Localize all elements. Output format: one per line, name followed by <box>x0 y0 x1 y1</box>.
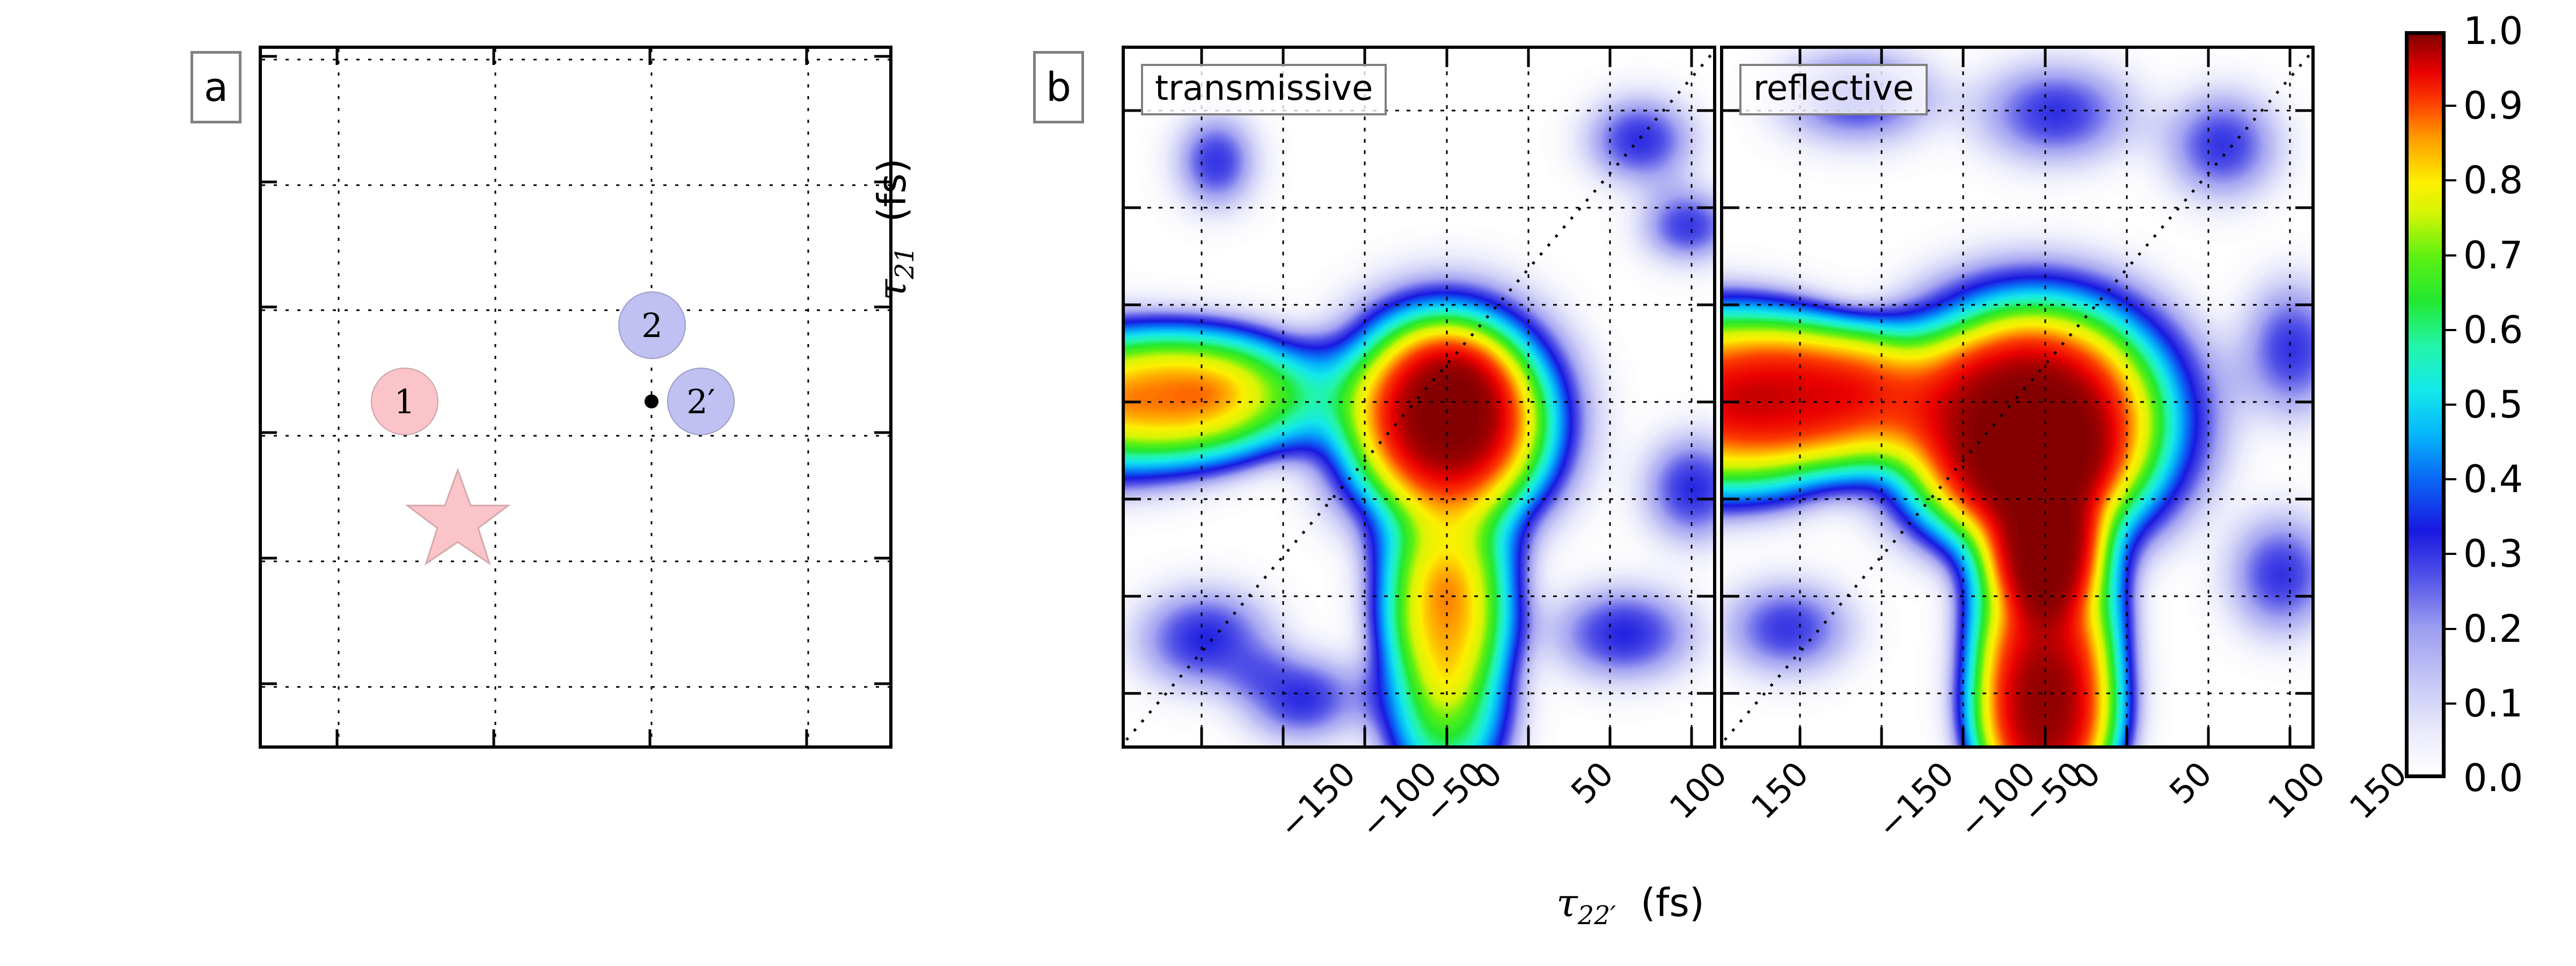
x-axis-unit: (fs) <box>1641 880 1704 925</box>
panel-a-markers: 1 2 2′ <box>262 49 889 745</box>
colorbar-tick-label: 0.7 <box>2463 233 2523 277</box>
panel-b-wrap: transmissive <box>1122 46 2315 749</box>
panel-a-axes: 1 2 2′ <box>259 46 892 749</box>
colorbar-tick-label: 0.4 <box>2463 457 2523 501</box>
colorbar-tick-label: 0.9 <box>2463 84 2523 128</box>
colorbar-tick <box>2442 404 2456 406</box>
colorbar-tick-label: 1.0 <box>2463 9 2523 53</box>
marker-circle-2: 2 <box>618 291 686 359</box>
x-tick-label: 150 <box>2342 754 2414 826</box>
heatmap-reflective-field <box>1723 49 2311 745</box>
heatmap-transmissive-title: transmissive <box>1141 64 1387 115</box>
x-tick-label: −150 <box>1271 754 1363 846</box>
x-tick-label: 50 <box>2162 754 2219 811</box>
x-tick-labels-reflective: −150 −100 −50 0 50 100 150 <box>1720 754 2315 872</box>
colorbar-tick <box>2442 628 2456 630</box>
colorbar <box>2405 31 2446 778</box>
colorbar-tick-label: 0.2 <box>2463 607 2523 651</box>
panel-letter-b: b <box>1033 51 1084 123</box>
x-tick-label: 50 <box>1563 754 1621 811</box>
colorbar-gradient <box>2409 35 2442 774</box>
y-axis-label: τ21 (fs) <box>869 0 920 301</box>
marker-circle-1: 1 <box>371 368 438 435</box>
panel-letter-a: a <box>191 51 241 123</box>
colorbar-tick-label: 0.0 <box>2463 756 2523 800</box>
colorbar-tick <box>2442 254 2456 257</box>
heatmap-transmissive-field <box>1125 49 1713 745</box>
colorbar-tick <box>2442 105 2456 107</box>
colorbar-tick <box>2442 478 2456 480</box>
colorbar-tick <box>2442 329 2456 331</box>
marker-circle-2-prime: 2′ <box>667 368 735 435</box>
colorbar-tick-label: 0.6 <box>2463 308 2523 352</box>
colorbar-tick-label: 0.3 <box>2463 532 2523 576</box>
x-axis-label: τ22′ (fs) <box>1556 880 1704 931</box>
figure-root: a 1 2 2′ <box>0 0 2576 966</box>
colorbar-tick-label: 0.8 <box>2463 158 2523 202</box>
x-tick-label: −150 <box>1869 754 1962 846</box>
origin-dot <box>645 394 658 408</box>
x-tick-labels-transmissive: −150 −100 −50 0 50 100 150 <box>1122 754 1716 872</box>
heatmap-reflective-title: reflective <box>1739 64 1928 115</box>
colorbar-tick-label: 0.5 <box>2463 383 2523 427</box>
colorbar-tick <box>2442 179 2456 181</box>
colorbar-tick <box>2442 553 2456 555</box>
y-axis-symbol: τ <box>869 279 914 301</box>
y-axis-unit: (fs) <box>869 158 914 222</box>
heatmap-reflective-axes: reflective <box>1720 46 2315 749</box>
x-axis-symbol: τ <box>1556 880 1578 925</box>
colorbar-tick-label: 0.1 <box>2463 682 2523 726</box>
colorbar-tick <box>2442 702 2456 705</box>
heatmap-transmissive-axes: transmissive <box>1122 46 1716 749</box>
y-axis-subscript: 21 <box>890 247 920 279</box>
x-tick-label: 100 <box>2260 754 2333 826</box>
x-axis-subscript: 22′ <box>1578 901 1616 931</box>
